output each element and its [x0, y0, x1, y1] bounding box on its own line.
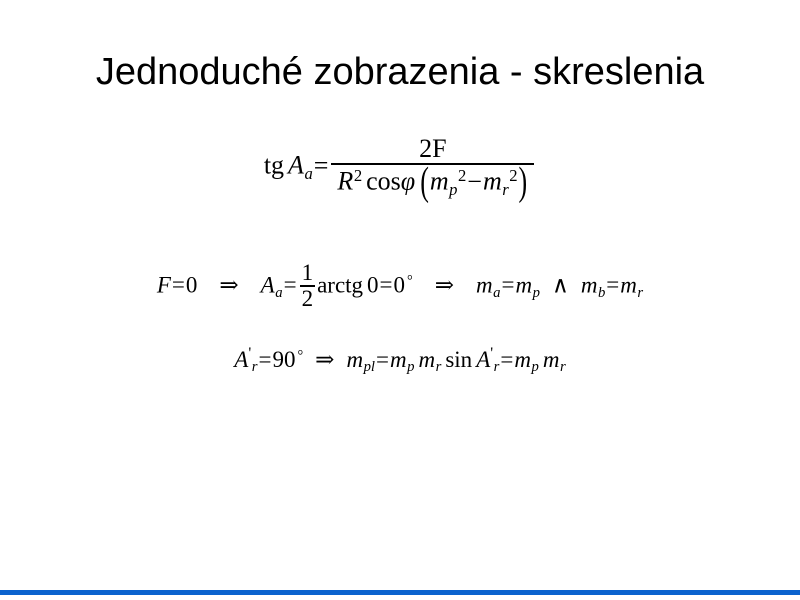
eq3-ninety: 90 [272, 347, 295, 372]
eq1-lhs-var: A [288, 151, 304, 180]
page-title: Jednoduché zobrazenia - skreslenia [0, 50, 800, 94]
eq2-implies-1: ⇒ [219, 272, 238, 297]
slide-canvas: Jednoduché zobrazenia - skreslenia tgAa=… [0, 0, 800, 600]
eq1-relation: = [313, 151, 330, 180]
eq2-wedge: ∧ [552, 272, 569, 297]
eq3-mr2-sub: r [559, 359, 565, 375]
eq3-a-var-2: A [476, 347, 490, 372]
eq1-paren-open: ( [419, 160, 430, 202]
eq2-ma: m [476, 272, 493, 297]
eq2-a-sub: a [275, 285, 283, 301]
eq2-frac-den: 2 [300, 285, 316, 311]
eq2-mp: m [515, 272, 532, 297]
eq1-paren-close: ) [518, 160, 529, 202]
eq2-f: F [157, 272, 171, 297]
eq2-implies-2: ⇒ [435, 272, 454, 297]
eq2-mb: m [581, 272, 598, 297]
eq2-eq5: = [605, 272, 620, 297]
eq3-mp2-sub: p [531, 359, 539, 375]
eq3-mr: m [418, 347, 435, 372]
eq1-den-m1-exp: 2 [457, 166, 466, 185]
eq3-mr2: m [543, 347, 560, 372]
eq2-mp-sub: p [532, 285, 540, 301]
eq2-arctg: arctg [317, 272, 363, 297]
eq2-ma-sub: a [493, 285, 501, 301]
eq2-arg: 0 [367, 272, 379, 297]
equation-3: A'r=90°⇒mpl=mpmrsinA'r=mpmr [0, 345, 800, 376]
eq2-eq3: = [379, 272, 394, 297]
eq3-implies: ⇒ [315, 347, 334, 372]
eq1-den-minus: − [466, 167, 483, 196]
eq2-mr-sub: r [637, 285, 643, 301]
eq2-eq1: = [171, 272, 186, 297]
eq3-eq1: = [257, 347, 272, 372]
eq3-mp2: m [514, 347, 531, 372]
eq1-den-exp: 2 [353, 166, 362, 185]
eq1-den-m1: m [430, 167, 449, 196]
eq1-den-m2-exp: 2 [509, 166, 518, 185]
eq2-degree: ° [405, 273, 413, 289]
eq2-eq4: = [501, 272, 516, 297]
eq1-den-m2-sub: r [502, 180, 509, 199]
eq1-den-phi: φ [401, 167, 415, 196]
eq3-a-var: A [234, 347, 248, 372]
eq3-mpl-sub: pl [363, 359, 375, 375]
eq2-frac-num: 1 [300, 261, 316, 285]
eq2-mr: m [620, 272, 637, 297]
eq1-fraction: 2FR2cosφ(mp2−mr2) [331, 135, 534, 198]
equation-1: tgAa=2FR2cosφ(mp2−mr2) [0, 136, 800, 199]
eq2-a-var: A [261, 272, 275, 297]
eq1-numerator: 2F [331, 135, 534, 163]
eq1-den-cos: cos [366, 167, 401, 196]
eq3-mr-sub: r [435, 359, 441, 375]
eq1-lhs-sub: a [304, 164, 313, 183]
eq1-denominator: R2cosφ(mp2−mr2) [331, 163, 534, 198]
eq3-sin: sin [445, 347, 472, 372]
eq3-mpl: m [346, 347, 363, 372]
equation-2: F=0⇒Aa=12arctg0=0°⇒ma=mp∧mb=mr [0, 262, 800, 312]
eq3-eq3: = [499, 347, 514, 372]
eq1-tg: tg [264, 151, 284, 180]
eq2-result: 0 [394, 272, 406, 297]
eq3-eq2: = [375, 347, 390, 372]
eq3-degree: ° [295, 348, 303, 364]
eq2-half-fraction: 12 [300, 261, 316, 311]
eq2-zero: 0 [186, 272, 198, 297]
eq3-mp-sub: p [407, 359, 415, 375]
eq1-den-var: R [337, 167, 353, 196]
eq3-mp: m [390, 347, 407, 372]
eq1-den-m2: m [483, 167, 502, 196]
footer-accent-rule [0, 590, 800, 595]
eq2-eq2: = [283, 272, 298, 297]
